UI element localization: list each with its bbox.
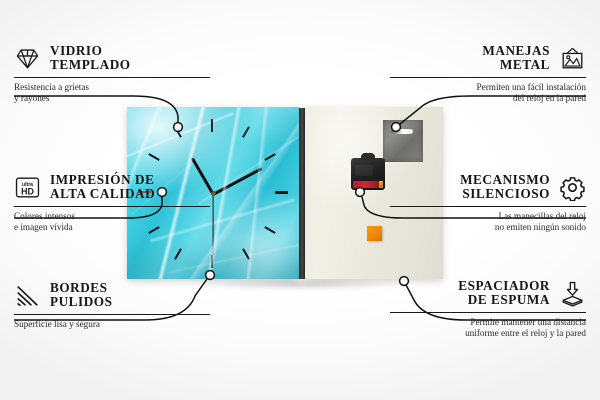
- feature-divider: [390, 206, 586, 207]
- clock-second-hand: [212, 194, 213, 256]
- feature-description: Permite mantener una distancia uniforme …: [390, 317, 586, 339]
- clock-minute-hand: [212, 167, 262, 195]
- diamond-icon: [14, 45, 41, 72]
- feature-divider: [390, 77, 586, 78]
- feature-divider: [390, 312, 586, 313]
- foam-spacer: [367, 226, 382, 241]
- feature-vidrio-templado: VIDRIO TEMPLADO Resistencia a grietas y …: [14, 44, 210, 105]
- infographic-canvas: VIDRIO TEMPLADO Resistencia a grietas y …: [0, 0, 600, 400]
- feature-description: Permiten una fácil instalación del reloj…: [390, 82, 586, 104]
- feature-divider: [14, 206, 210, 207]
- feature-title: ESPACIADOR DE ESPUMA: [458, 279, 550, 308]
- feature-mecanismo-silencioso: MECANISMO SILENCIOSO Las manecillas del …: [390, 173, 586, 234]
- polished-edges-icon: [14, 282, 41, 309]
- feature-impresion-alta-calidad: ultra HD IMPRESIÓN DE ALTA CALIDAD Color…: [14, 173, 210, 234]
- svg-text:HD: HD: [21, 186, 34, 196]
- clock-mechanism: [351, 158, 385, 190]
- feature-description: Colores intensos e imagen vívida: [14, 211, 210, 233]
- feature-title: VIDRIO TEMPLADO: [50, 44, 131, 73]
- feature-manejas-metal: MANEJAS METAL Permiten una fácil instala…: [390, 44, 586, 105]
- feature-bordes-pulidos: BORDES PULIDOS Superficie lisa y segura: [14, 281, 210, 330]
- feature-divider: [14, 77, 210, 78]
- feature-description: Superficie lisa y segura: [14, 319, 210, 330]
- clock-center-cap: [211, 191, 216, 196]
- feature-description: Resistencia a grietas y rayones: [14, 82, 210, 104]
- gear-icon: [559, 174, 586, 201]
- feature-description: Las manecillas del reloj no emiten ningú…: [390, 211, 586, 233]
- feature-title: IMPRESIÓN DE ALTA CALIDAD: [50, 173, 155, 202]
- feature-divider: [14, 314, 210, 315]
- foam-spacer-icon: [559, 280, 586, 307]
- picture-frame-icon: [559, 45, 586, 72]
- feature-espaciador-espuma: ESPACIADOR DE ESPUMA Permite mantener un…: [390, 279, 586, 340]
- feature-title: BORDES PULIDOS: [50, 281, 112, 310]
- metal-hanger: [383, 120, 423, 162]
- ultra-hd-icon: ultra HD: [14, 174, 41, 201]
- feature-title: MECANISMO SILENCIOSO: [460, 173, 550, 202]
- battery: [353, 181, 380, 188]
- feature-title: MANEJAS METAL: [482, 44, 550, 73]
